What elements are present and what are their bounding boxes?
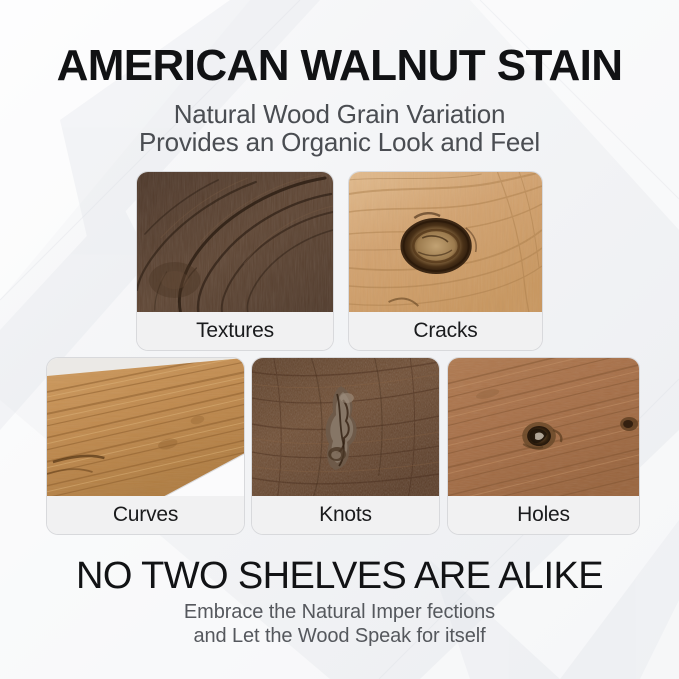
wood-swatch-knots-icon xyxy=(252,358,439,497)
feature-card-holes[interactable]: Holes xyxy=(447,357,640,535)
wood-swatch-cracks-icon xyxy=(349,172,542,313)
feature-card-label: Curves xyxy=(47,496,244,534)
page-title: AMERICAN WALNUT STAIN xyxy=(0,44,679,88)
header-subtitle-line2: Provides an Organic Look and Feel xyxy=(0,127,679,158)
feature-card-cracks[interactable]: Cracks xyxy=(348,171,543,351)
feature-card-label: Knots xyxy=(252,496,439,534)
wood-swatch-holes-icon xyxy=(448,358,639,497)
feature-card-knots[interactable]: Knots xyxy=(251,357,440,535)
feature-card-label: Holes xyxy=(448,496,639,534)
footer-title: NO TWO SHELVES ARE ALIKE xyxy=(0,555,679,598)
wood-swatch-textures-icon xyxy=(137,172,333,313)
feature-card-label: Textures xyxy=(137,312,333,350)
header-subtitle-line1: Natural Wood Grain Variation xyxy=(0,99,679,130)
feature-card-curves[interactable]: Curves xyxy=(46,357,245,535)
footer-subtitle-line2: and Let the Wood Speak for itself xyxy=(0,625,679,648)
wood-swatch-curves-icon xyxy=(47,358,244,497)
feature-card-textures[interactable]: Textures xyxy=(136,171,334,351)
feature-card-label: Cracks xyxy=(349,312,542,350)
footer-subtitle-line1: Embrace the Natural Imper fections xyxy=(0,601,679,624)
